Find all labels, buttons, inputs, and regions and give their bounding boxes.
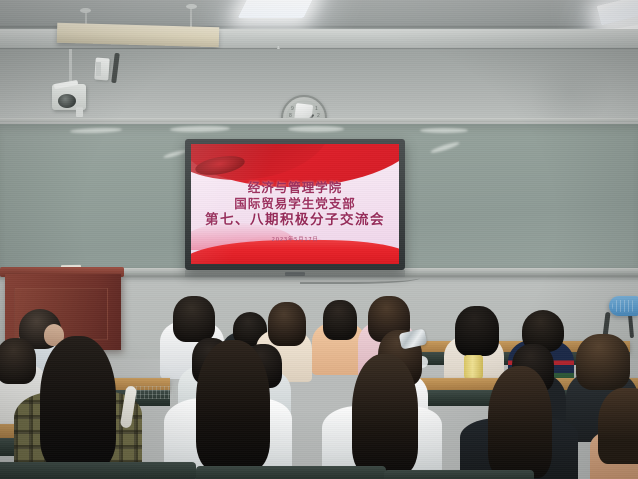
- slide-date: 2023年5月17日: [191, 235, 399, 243]
- student-hair: [488, 366, 552, 478]
- seat-back-left: [0, 462, 196, 479]
- tv-screen-panel: 经济与管理学院 国际贸易学生党支部 第七、八期积极分子交流会 2023年5月17…: [191, 144, 399, 264]
- slide-title-line-3: 第七、八期积极分子交流会: [191, 212, 399, 228]
- clock-tick-1: 1: [315, 107, 318, 112]
- student-hair: [268, 302, 306, 346]
- lamp-rod-right: [190, 6, 192, 28]
- clock-tick-9: 9: [291, 107, 294, 112]
- wall-smudge: [520, 62, 620, 122]
- student-hair: [196, 340, 270, 470]
- lamp-cap-right: [186, 4, 197, 9]
- student-hair: [352, 354, 418, 474]
- wall-speaker-grill: [96, 62, 101, 76]
- student-hair: [0, 338, 36, 384]
- tv-brand-logo: [285, 272, 305, 276]
- slide-text-block: 经济与管理学院 国际贸易学生党支部 第七、八期积极分子交流会 2023年5月17…: [191, 180, 399, 243]
- chalkboard-glare: [420, 128, 468, 133]
- wall-fan-grill: [612, 300, 633, 312]
- student-hair: [323, 300, 357, 340]
- student-hair: [455, 306, 499, 356]
- student-hair: [576, 334, 630, 390]
- ceiling-light-center-icon: [238, 0, 317, 18]
- student-hair: [40, 336, 116, 468]
- slide-title-line-2: 国际贸易学生党支部: [191, 196, 399, 212]
- lamp-cap-left: [80, 8, 91, 13]
- seat-back-right: [384, 470, 534, 479]
- student-hair: [598, 388, 638, 464]
- camera-bracket: [76, 107, 83, 117]
- slide-title-line-1: 经济与管理学院: [191, 180, 399, 196]
- classroom-photo: 1 2 3 4 5 6 7 8 9 2: [0, 0, 638, 479]
- student-hair: [173, 296, 215, 342]
- camera-dome-lens: [58, 94, 76, 108]
- chalkboard-glare: [288, 126, 344, 132]
- seat-back-center: [196, 466, 386, 479]
- presentation-screen[interactable]: 经济与管理学院 国际贸易学生党支部 第七、八期积极分子交流会 2023年5月17…: [185, 139, 405, 270]
